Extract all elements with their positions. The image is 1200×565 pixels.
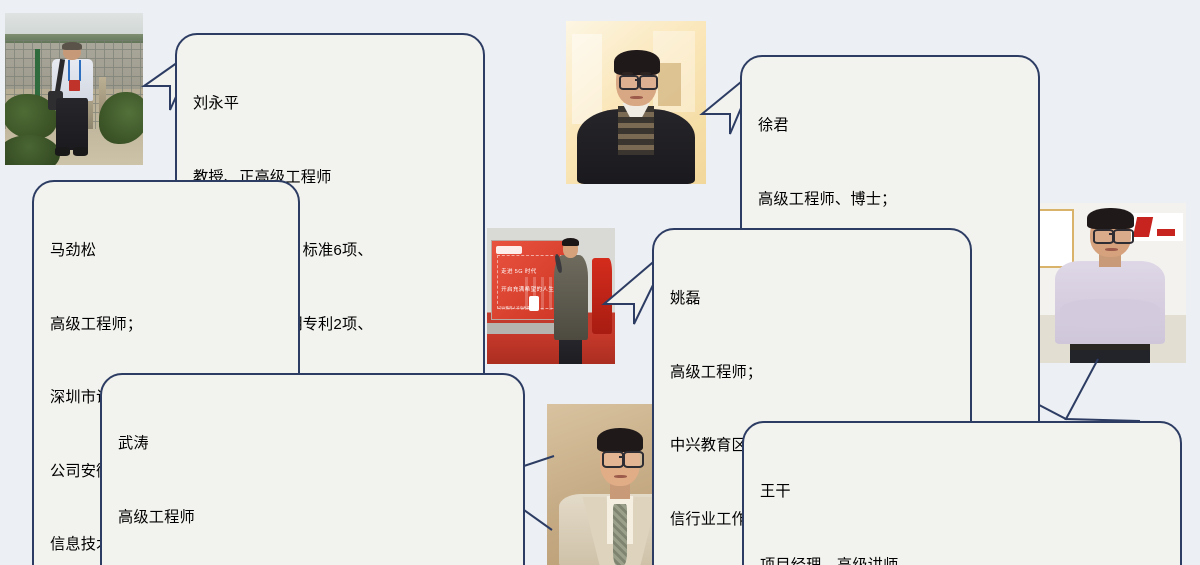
profile-name: 姚磊 [670,287,958,312]
profile-name: 刘永平 [193,92,471,117]
profile-name: 王干 [760,480,1168,505]
slide-line-2: 开启充满希望的人生 [501,285,554,293]
photo-liu-yongping [5,13,143,165]
profile-line: 高级工程师； [670,361,958,386]
photo-wang-right [1034,203,1186,363]
profile-line: 高级工程师； [50,313,286,338]
callout-wu-tao[interactable]: 武涛 高级工程师 联通（安徽）产业互联网研究院工业互联 网行业总监、联通政企解决… [100,373,525,565]
photo-yao-lei: 走进 5G 时代 开启充满希望的人生 中兴教育人才培养项目 [487,228,615,364]
profile-name: 徐君 [758,114,1026,139]
profile-line: 项目经理、高级讲师 [760,554,1168,565]
photo-xu-jun [566,21,706,184]
profile-line: 高级工程师、博士； [758,188,1026,213]
callout-wang-gan[interactable]: 王干 项目经理、高级讲师 中兴教育管理有限公司安徽区域运营总监 5年+的通信行业… [742,421,1182,565]
profile-line: 高级工程师 [118,506,511,531]
profile-name: 马劲松 [50,239,286,264]
profile-name: 武涛 [118,432,511,457]
slide-line-1: 走进 5G 时代 [501,267,537,275]
profiles-canvas: 走进 5G 时代 开启充满希望的人生 中兴教育人才培养项目 [0,0,1200,565]
